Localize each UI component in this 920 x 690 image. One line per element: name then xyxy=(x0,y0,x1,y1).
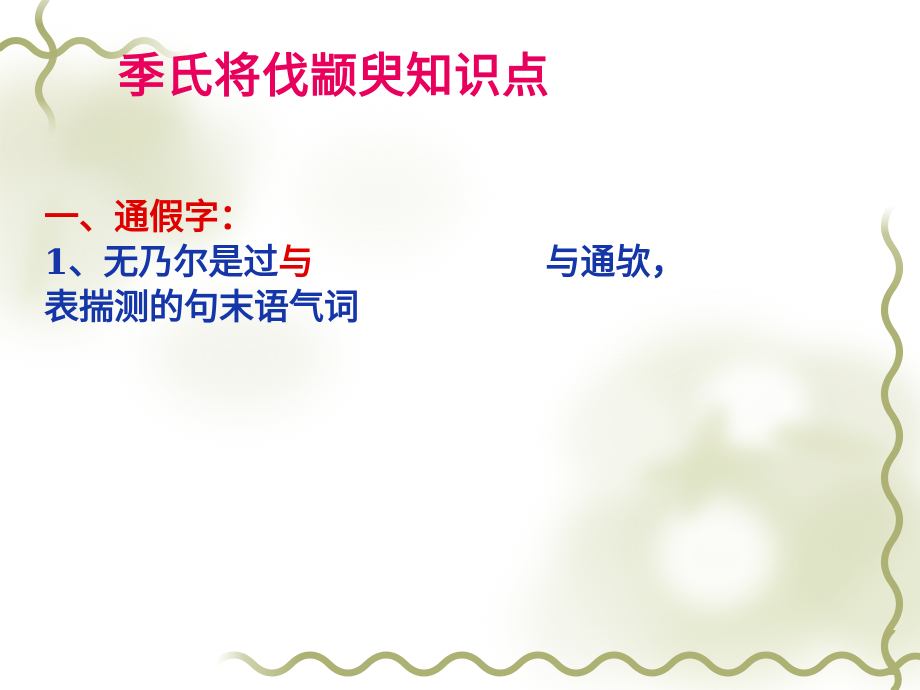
list-item: 1、无乃尔是过与与通欤， xyxy=(44,241,884,286)
item-number: 1、 xyxy=(44,242,103,283)
item-gloss-line-2: 表揣测的句末语气词 xyxy=(44,286,884,331)
item-highlight-char: 与 xyxy=(278,242,313,283)
presentation-slide: 季氏将伐颛臾知识点 一、通假字： 1、无乃尔是过与与通欤， 表揣测的句末语气词 xyxy=(0,0,920,690)
section-heading: 一、通假字： xyxy=(44,196,884,241)
top-left-vertical-wavy-line xyxy=(30,0,64,140)
slide-body: 一、通假字： 1、无乃尔是过与与通欤， 表揣测的句末语气词 xyxy=(44,196,884,330)
item-main-text: 无乃尔是过 xyxy=(103,242,278,283)
bottom-right-corner-ornament xyxy=(876,630,912,690)
page-title: 季氏将伐颛臾知识点 xyxy=(118,52,550,103)
item-gloss: 与通欤， xyxy=(545,242,685,283)
bottom-border-wavy-line xyxy=(215,646,920,682)
